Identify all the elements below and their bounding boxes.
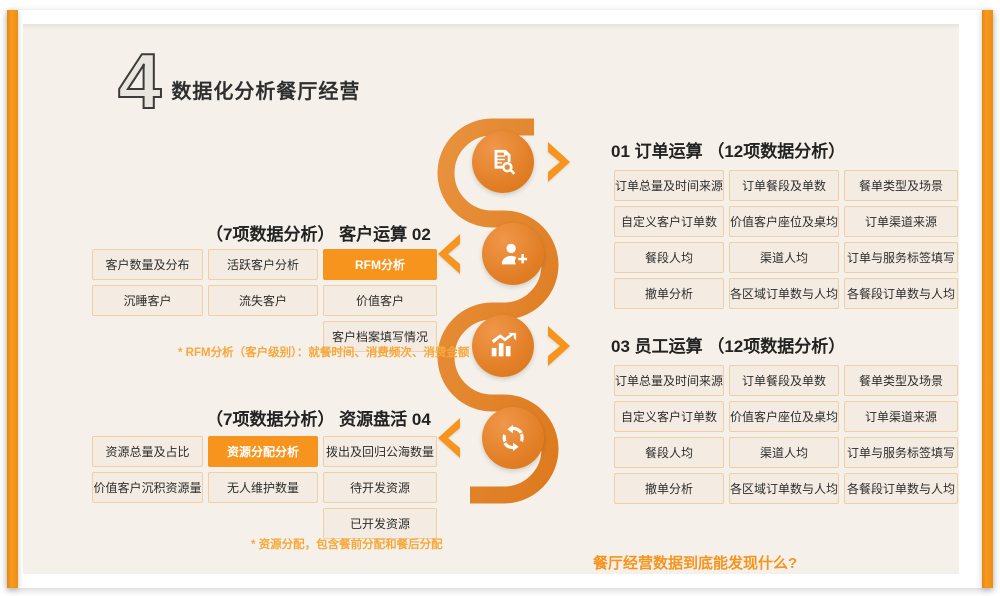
ribbon-node-2	[482, 223, 544, 285]
refresh-cycle-icon	[498, 423, 528, 453]
section-01-heading: 01 订单运算 （12项数据分析）	[611, 137, 845, 162]
section-03-heading: 03 员工运算 （12项数据分析）	[611, 332, 845, 357]
grid-cell[interactable]: 客户数量及分布	[92, 249, 203, 280]
bar-chart-growth-icon	[488, 331, 518, 361]
grid-cell[interactable]: 资源总量及占比	[92, 436, 203, 467]
ribbon-arrow-2	[432, 231, 466, 277]
section-04-footnote: * 资源分配，包含餐前分配和餐后分配	[251, 536, 443, 552]
section-number-badge: 4	[118, 50, 159, 114]
grid-cell[interactable]: 各区域订单数与人均	[729, 473, 839, 504]
right-orange-rail	[982, 10, 993, 588]
document-search-icon	[488, 147, 518, 177]
grid-cell[interactable]: 订单餐段及单数	[729, 365, 839, 396]
grid-cell[interactable]: 无人维护数量	[208, 472, 318, 503]
grid-cell[interactable]: 流失客户	[208, 285, 318, 316]
ribbon-node-4	[482, 407, 544, 469]
grid-cell[interactable]: 餐段人均	[614, 437, 724, 468]
grid-cell[interactable]: 价值客户沉积资源量	[92, 472, 203, 503]
ribbon-node-1	[472, 131, 534, 193]
grid-cell[interactable]: 撤单分析	[614, 473, 724, 504]
grid-cell[interactable]: 订单总量及时间来源	[614, 170, 724, 201]
page-title-text: 数据化分析餐厅经营	[171, 75, 360, 104]
chevron-right-icon	[542, 139, 576, 185]
grid-cell[interactable]: 自定义客户订单数	[614, 206, 724, 237]
bottom-question-link[interactable]: 餐厅经营数据到底能发现什么?	[593, 552, 797, 574]
grid-cell[interactable]: 价值客户座位及桌均	[729, 206, 839, 237]
section-01-grid: 订单总量及时间来源 订单餐段及单数 餐单类型及场景 自定义客户订单数 价值客户座…	[614, 170, 958, 309]
grid-cell[interactable]: 各餐段订单数与人均	[844, 473, 958, 504]
grid-cell[interactable]: 订单与服务标签填写	[844, 242, 958, 273]
grid-cell[interactable]: 渠道人均	[729, 437, 839, 468]
grid-cell[interactable]: 价值客户座位及桌均	[729, 401, 839, 432]
section-02-grid: 客户数量及分布 活跃客户分析 RFM分析 沉睡客户 流失客户 价值客户 客户档案…	[92, 249, 433, 352]
section-04-grid: 资源总量及占比 资源分配分析 拨出及回归公海数量 价值客户沉积资源量 无人维护数…	[92, 436, 433, 539]
grid-cell[interactable]: 沉睡客户	[92, 285, 203, 316]
ribbon-node-3	[472, 315, 534, 377]
ribbon-arrow-1	[542, 139, 576, 185]
grid-cell[interactable]: 订单总量及时间来源	[614, 365, 724, 396]
chevron-left-icon	[432, 231, 466, 277]
section-03-grid: 订单总量及时间来源 订单餐段及单数 餐单类型及场景 自定义客户订单数 价值客户座…	[614, 365, 958, 504]
grid-cell[interactable]: 各区域订单数与人均	[729, 278, 839, 309]
grid-cell[interactable]: 活跃客户分析	[208, 249, 318, 280]
section-02-footnote: * RFM分析（客户级别）：就餐时间、消费频次、消费金额	[178, 344, 469, 360]
slide-canvas: 4 数据化分析餐厅经营	[23, 24, 959, 574]
grid-cell[interactable]: 已开发资源	[323, 508, 437, 539]
ribbon-arrow-4	[432, 415, 466, 461]
chevron-right-icon	[542, 323, 576, 369]
page-title: 4 数据化分析餐厅经营	[118, 50, 360, 114]
left-orange-rail	[7, 10, 18, 588]
grid-cell-empty	[92, 508, 203, 539]
grid-cell[interactable]: 餐单类型及场景	[844, 365, 958, 396]
grid-cell[interactable]: 订单渠道来源	[844, 206, 958, 237]
grid-cell[interactable]: 撤单分析	[614, 278, 724, 309]
grid-cell[interactable]: 待开发资源	[323, 472, 437, 503]
grid-cell[interactable]: 价值客户	[323, 285, 437, 316]
grid-cell-highlighted[interactable]: RFM分析	[323, 249, 437, 280]
chevron-left-icon	[432, 415, 466, 461]
ribbon-arrow-3	[542, 323, 576, 369]
grid-cell[interactable]: 各餐段订单数与人均	[844, 278, 958, 309]
grid-cell[interactable]: 订单餐段及单数	[729, 170, 839, 201]
grid-cell[interactable]: 订单与服务标签填写	[844, 437, 958, 468]
grid-cell[interactable]: 餐段人均	[614, 242, 724, 273]
slide-root: 4 数据化分析餐厅经营	[0, 0, 1000, 596]
center-ribbon	[434, 99, 574, 539]
grid-cell[interactable]: 渠道人均	[729, 242, 839, 273]
grid-cell-empty	[208, 508, 318, 539]
grid-cell[interactable]: 拨出及回归公海数量	[323, 436, 437, 467]
grid-cell[interactable]: 自定义客户订单数	[614, 401, 724, 432]
section-04-heading: （7项数据分析） 资源盘活 04	[206, 405, 431, 430]
add-user-icon	[498, 239, 528, 269]
grid-cell[interactable]: 订单渠道来源	[844, 401, 958, 432]
grid-cell-highlighted[interactable]: 资源分配分析	[208, 436, 318, 467]
grid-cell[interactable]: 餐单类型及场景	[844, 170, 958, 201]
section-02-heading: （7项数据分析） 客户运算 02	[206, 220, 431, 245]
